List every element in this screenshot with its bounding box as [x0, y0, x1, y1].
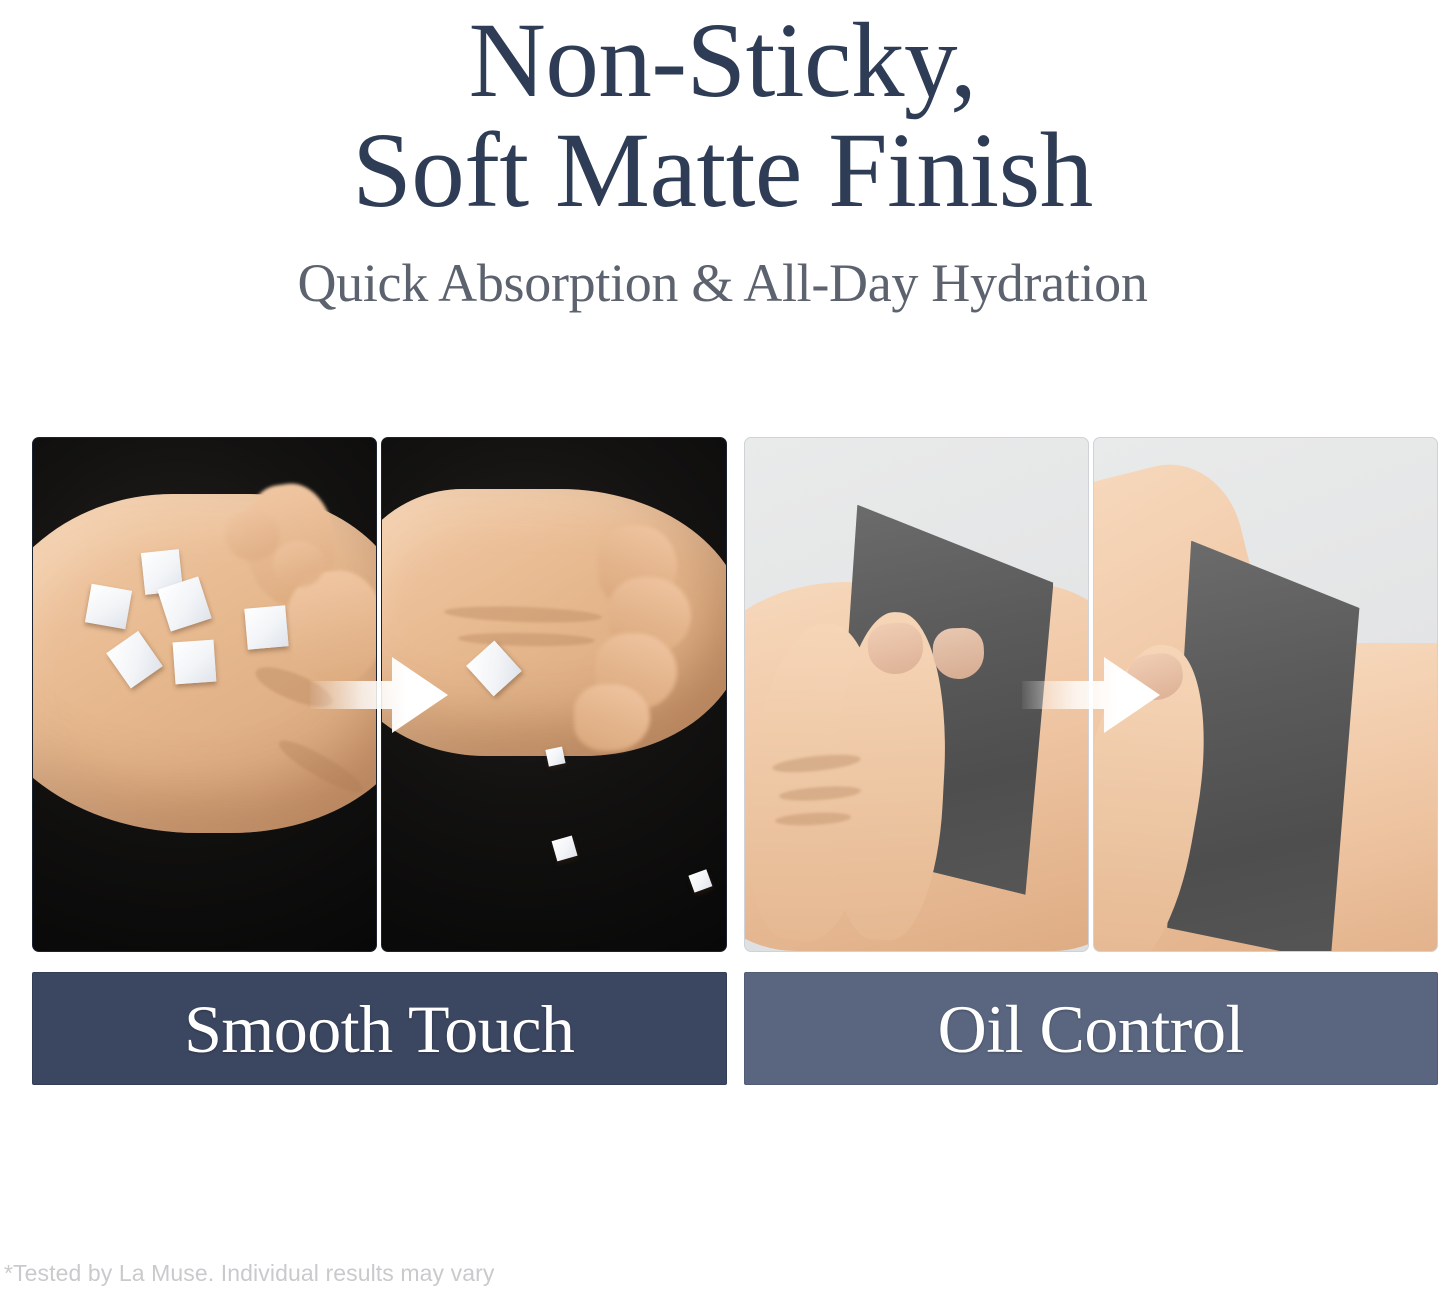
- photo-row-smooth-touch: [32, 437, 727, 952]
- photo-after-oil-control: [1093, 437, 1438, 952]
- infographic-page: Non-Sticky, Soft Matte Finish Quick Abso…: [0, 0, 1445, 1303]
- paper-square-falling: [689, 869, 713, 893]
- paper-square-falling: [551, 836, 576, 861]
- disclaimer-text: *Tested by La Muse. Individual results m…: [4, 1260, 494, 1287]
- photo-row-oil-control: [744, 437, 1439, 952]
- paper-square: [244, 606, 289, 650]
- comparison-groups: Smooth Touch: [32, 437, 1438, 1085]
- caption-bar-oil-control: Oil Control: [744, 972, 1439, 1085]
- paper-square-falling: [545, 747, 565, 768]
- paper-square: [85, 584, 132, 630]
- comparison-group-smooth-touch: Smooth Touch: [32, 437, 727, 1085]
- caption-label: Smooth Touch: [184, 995, 574, 1063]
- knuckle-shape: [273, 541, 324, 587]
- comparison-group-oil-control: Oil Control: [744, 437, 1439, 1085]
- photo-before-oil-control: [744, 437, 1089, 952]
- knuckle-shape: [574, 684, 650, 751]
- caption-label: Oil Control: [938, 995, 1244, 1063]
- header: Non-Sticky, Soft Matte Finish Quick Abso…: [0, 0, 1445, 314]
- knuckle-shape: [225, 510, 280, 561]
- caption-bar-smooth-touch: Smooth Touch: [32, 972, 727, 1085]
- photo-after-smooth-touch: [381, 437, 726, 952]
- paper-square: [172, 639, 216, 684]
- page-title: Non-Sticky, Soft Matte Finish: [0, 0, 1445, 226]
- page-subtitle: Quick Absorption & All-Day Hydration: [0, 226, 1445, 313]
- photo-before-smooth-touch: [32, 437, 377, 952]
